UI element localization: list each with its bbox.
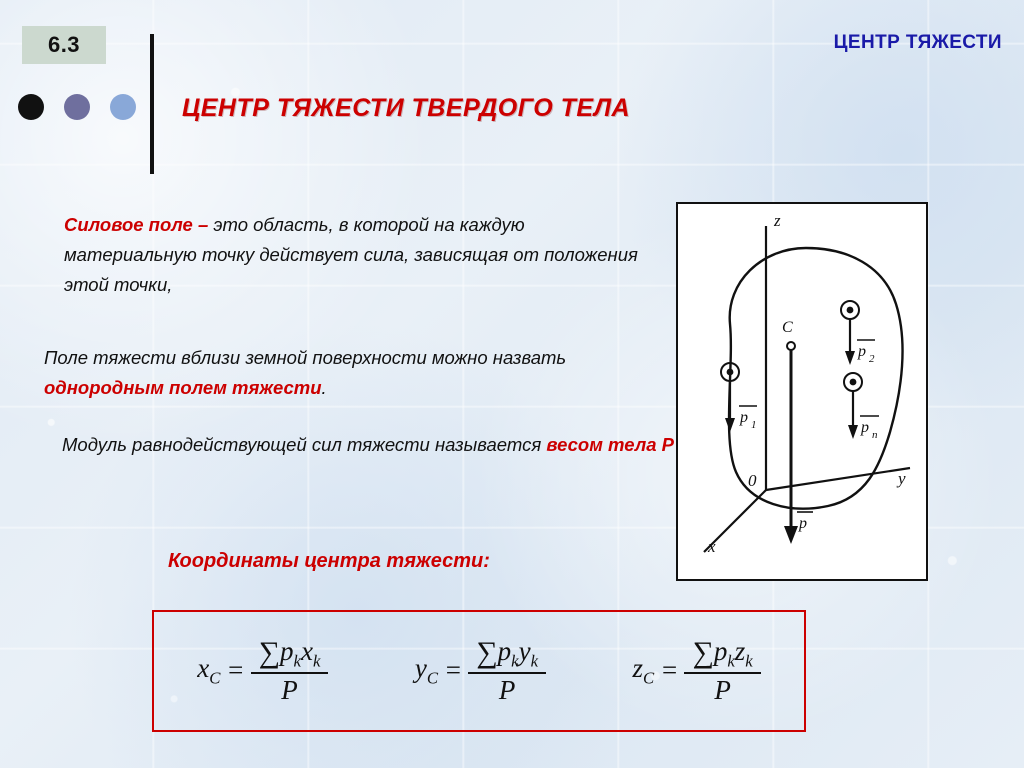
formula-yc-denominator: P	[499, 674, 516, 705]
formula-zc-var: z	[633, 653, 644, 683]
decorative-dots	[18, 94, 136, 120]
force-n-label: p	[860, 419, 869, 436]
formula-zc-numerator: ∑pkzk	[684, 637, 760, 672]
formula-xc-var: x	[197, 653, 209, 683]
point-n-inner	[850, 379, 857, 386]
force-2-label: p	[857, 343, 866, 360]
formula-yc-fraction: ∑pkyk P	[468, 637, 546, 706]
formula-yc-num-p-sub: k	[511, 651, 518, 670]
force-n-subscript: n	[872, 429, 878, 441]
formula-yc-num-p: p	[498, 636, 512, 666]
formula-zc-num-p-sub: k	[727, 651, 734, 670]
paragraph-gravity-field-post: .	[322, 377, 327, 398]
formula-yc-num-y-sub: k	[531, 651, 538, 670]
paragraph-force-field-lead: Силовое поле –	[64, 214, 213, 235]
force-2-arrow-head	[845, 351, 855, 365]
slide-root: 6.3 ЦЕНТР ТЯЖЕСТИ ЦЕНТР ТЯЖЕСТИ ТВЕРДОГО…	[0, 0, 1024, 768]
formula-xc-fraction: ∑pkxk P	[251, 637, 329, 706]
formula-yc-equals: =	[438, 655, 468, 686]
force-1-label: p	[739, 409, 748, 426]
formula-xc: xC = ∑pkxk P	[197, 637, 328, 706]
formula-list: xC = ∑pkxk P yC = ∑pkyk P zC =	[154, 612, 804, 730]
figure-center-of-gravity: p 1 p 2 p n C p	[676, 202, 928, 581]
formula-xc-num-p: p	[280, 636, 294, 666]
point-1-inner	[727, 369, 734, 376]
force-1-subscript: 1	[751, 419, 757, 431]
formula-zc-num-z: z	[735, 636, 746, 666]
corner-title: ЦЕНТР ТЯЖЕСТИ	[834, 32, 1002, 54]
force-2-subscript: 2	[869, 353, 875, 365]
formula-yc-var: y	[415, 653, 427, 683]
slide-number-text: 6.3	[48, 32, 80, 58]
formula-xc-denominator: P	[281, 674, 298, 705]
formula-yc-sub: C	[427, 669, 438, 688]
formula-zc-sum-icon: ∑	[692, 636, 713, 669]
resultant-label: p	[798, 515, 807, 532]
axis-z-label: z	[773, 211, 781, 230]
slide-number-badge: 6.3	[22, 26, 106, 64]
formula-xc-num-x: x	[301, 636, 313, 666]
formula-box: xC = ∑pkxk P yC = ∑pkyk P zC =	[152, 610, 806, 732]
formula-xc-equals: =	[220, 655, 250, 686]
formula-xc-num-x-sub: k	[313, 651, 320, 670]
formula-yc-num-y: y	[519, 636, 531, 666]
center-of-gravity-point	[787, 342, 795, 350]
formula-xc-num-p-sub: k	[294, 651, 301, 670]
formula-xc-lhs: xC	[197, 653, 220, 688]
figure-svg: p 1 p 2 p n C p	[678, 204, 922, 575]
formula-yc-numerator: ∑pkyk	[468, 637, 546, 672]
paragraph-gravity-field-emphasis: однородным полем тяжести	[44, 377, 322, 398]
axis-x-label: x	[707, 537, 716, 556]
center-label: C	[782, 319, 793, 336]
paragraph-weight-emphasis: весом тела Р	[546, 434, 674, 455]
body-outline	[729, 248, 903, 509]
force-n-arrow-head	[848, 425, 858, 439]
point-2-inner	[847, 307, 854, 314]
formula-zc-denominator: P	[714, 674, 731, 705]
force-1-arrow-head	[725, 418, 735, 432]
coordinates-caption: Координаты центра тяжести:	[168, 550, 490, 573]
axis-y-label: y	[896, 469, 906, 488]
formula-yc: yC = ∑pkyk P	[415, 637, 546, 706]
page-title: ЦЕНТР ТЯЖЕСТИ ТВЕРДОГО ТЕЛА	[182, 94, 630, 123]
dot-icon-violet	[64, 94, 90, 120]
paragraph-weight: Модуль равнодействующей сил тяжести назы…	[62, 430, 682, 460]
paragraph-gravity-field: Поле тяжести вблизи земной поверхности м…	[44, 343, 664, 403]
vertical-divider	[150, 34, 154, 174]
formula-yc-sum-icon: ∑	[476, 636, 497, 669]
axis-y-line	[766, 468, 910, 490]
dot-icon-blue	[110, 94, 136, 120]
formula-xc-sum-icon: ∑	[259, 636, 280, 669]
resultant-arrow-head	[784, 526, 798, 544]
formula-xc-numerator: ∑pkxk	[251, 637, 329, 672]
formula-zc-num-z-sub: k	[745, 651, 752, 670]
formula-yc-lhs: yC	[415, 653, 438, 688]
paragraph-weight-pre: Модуль равнодействующей сил тяжести назы…	[62, 434, 546, 455]
formula-zc-equals: =	[654, 655, 684, 686]
formula-zc-fraction: ∑pkzk P	[684, 637, 760, 706]
paragraph-force-field: Силовое поле – это область, в которой на…	[64, 210, 654, 300]
origin-label: 0	[748, 471, 757, 490]
formula-zc-num-p: p	[714, 636, 728, 666]
formula-zc-sub: C	[643, 669, 654, 688]
paragraph-gravity-field-pre: Поле тяжести вблизи земной поверхности м…	[44, 347, 566, 368]
formula-xc-sub: C	[209, 669, 220, 688]
formula-zc: zC = ∑pkzk P	[633, 637, 761, 706]
formula-zc-lhs: zC	[633, 653, 655, 688]
dot-icon-dark	[18, 94, 44, 120]
